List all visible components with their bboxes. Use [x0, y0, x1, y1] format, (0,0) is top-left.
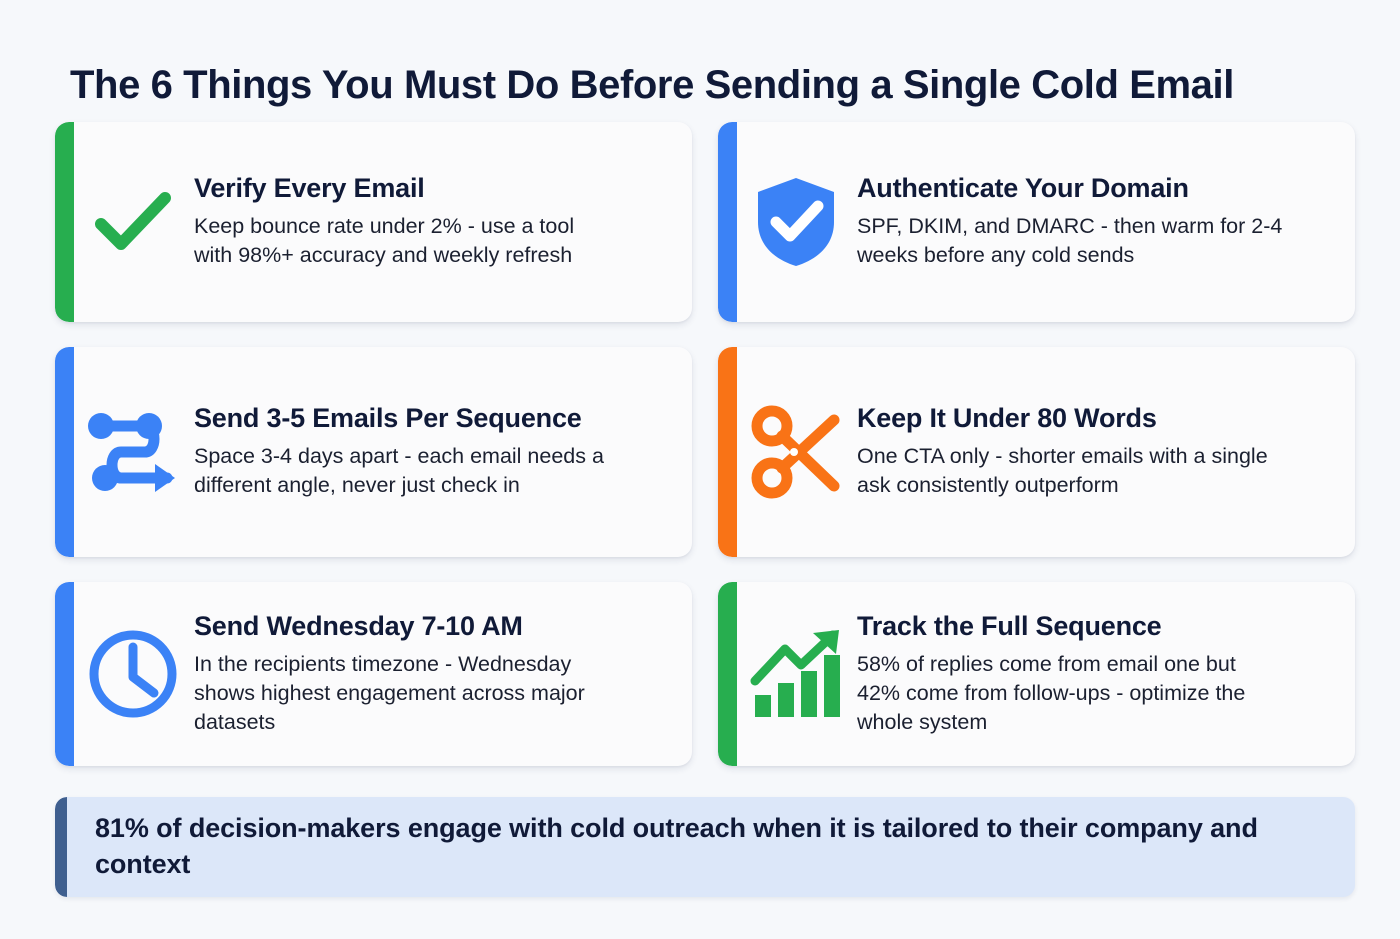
card-description: SPF, DKIM, and DMARC - then warm for 2-4…	[857, 212, 1289, 270]
cards-grid: Verify Every Email Keep bounce rate unde…	[55, 122, 1355, 766]
footer-stat-banner: 81% of decision-makers engage with cold …	[55, 797, 1355, 897]
footer-stat-text: 81% of decision-makers engage with cold …	[95, 811, 1315, 882]
card-accent-bar	[55, 582, 74, 766]
card-body: Send Wednesday 7-10 AM In the recipients…	[192, 611, 640, 738]
card-description: In the recipients timezone - Wednesday s…	[194, 650, 614, 738]
footer-accent-bar	[55, 797, 67, 897]
clock-icon	[74, 627, 192, 721]
card-title: Send Wednesday 7-10 AM	[194, 611, 614, 643]
card-title: Send 3-5 Emails Per Sequence	[194, 403, 604, 435]
card-accent-bar	[55, 347, 74, 557]
card-accent-bar	[718, 347, 737, 557]
shield-check-icon	[737, 174, 855, 270]
card-track-the-full-sequence: Track the Full Sequence 58% of replies c…	[718, 582, 1355, 766]
card-accent-bar	[718, 582, 737, 766]
card-accent-bar	[718, 122, 737, 322]
card-description: 58% of replies come from email one but 4…	[857, 650, 1277, 738]
card-body: Track the Full Sequence 58% of replies c…	[855, 611, 1303, 738]
card-send-3-5-emails-per-sequence: Send 3-5 Emails Per Sequence Space 3-4 d…	[55, 347, 692, 557]
card-description: Space 3-4 days apart - each email needs …	[194, 442, 604, 500]
infographic-page: The 6 Things You Must Do Before Sending …	[0, 0, 1400, 939]
page-title: The 6 Things You Must Do Before Sending …	[70, 63, 1340, 108]
card-send-wednesday-7-10-am: Send Wednesday 7-10 AM In the recipients…	[55, 582, 692, 766]
card-description: One CTA only - shorter emails with a sin…	[857, 442, 1277, 500]
card-title: Track the Full Sequence	[857, 611, 1277, 643]
sequence-flow-icon	[74, 402, 192, 502]
card-title: Keep It Under 80 Words	[857, 403, 1277, 435]
card-description: Keep bounce rate under 2% - use a tool w…	[194, 212, 594, 270]
card-verify-every-email: Verify Every Email Keep bounce rate unde…	[55, 122, 692, 322]
growth-chart-icon	[737, 627, 855, 721]
card-body: Send 3-5 Emails Per Sequence Space 3-4 d…	[192, 403, 630, 500]
card-keep-it-under-80-words: Keep It Under 80 Words One CTA only - sh…	[718, 347, 1355, 557]
scissors-icon	[737, 404, 855, 500]
card-body: Keep It Under 80 Words One CTA only - sh…	[855, 403, 1303, 500]
card-authenticate-your-domain: Authenticate Your Domain SPF, DKIM, and …	[718, 122, 1355, 322]
card-body: Authenticate Your Domain SPF, DKIM, and …	[855, 173, 1315, 270]
card-title: Verify Every Email	[194, 173, 594, 205]
card-body: Verify Every Email Keep bounce rate unde…	[192, 173, 620, 270]
card-accent-bar	[55, 122, 74, 322]
card-title: Authenticate Your Domain	[857, 173, 1289, 205]
check-icon	[74, 174, 192, 270]
